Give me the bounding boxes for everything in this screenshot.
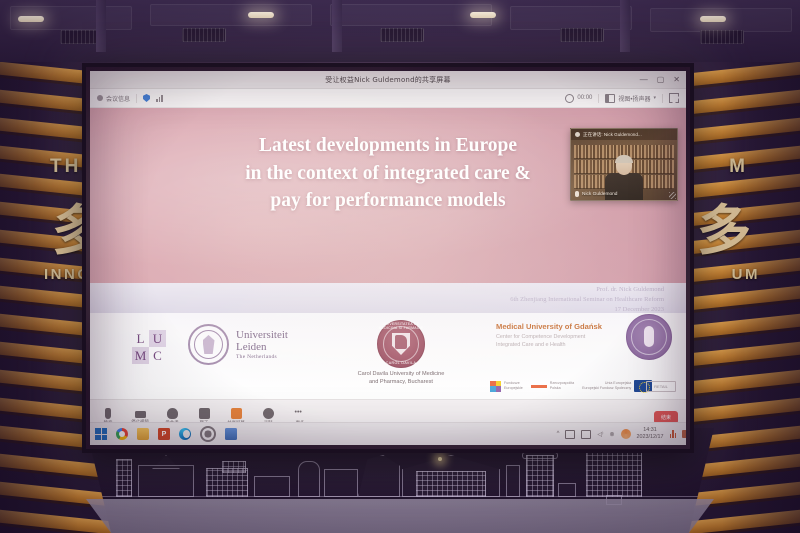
more-icon bbox=[295, 408, 306, 419]
system-tray: ^ ◁⁾ ⊗ 14:31 2023/12/17 bbox=[557, 427, 686, 441]
stage-floor bbox=[86, 499, 714, 533]
rzeczpospolita-polska-logo: Rzeczpospolita Polska bbox=[531, 381, 574, 390]
record-icon bbox=[565, 94, 574, 103]
view-icon bbox=[605, 94, 615, 103]
unia-europejska-logo: Unia Europejska Europejski Fundusz Społe… bbox=[582, 380, 652, 392]
recording-time: 00:00 bbox=[577, 95, 592, 101]
clock[interactable]: 14:31 2023/12/17 bbox=[637, 427, 664, 441]
ceiling-duct bbox=[620, 0, 630, 52]
lumc-letter-l: L bbox=[132, 330, 149, 347]
chevron-down-icon: ▾ bbox=[653, 95, 656, 101]
meeting-toolbar: 会议信息 00:00 视图•扬声器 ▾ bbox=[90, 89, 686, 108]
shared-desktop: 受让权益Nick Guldemond的共享屏幕 — ▢ ✕ 会议信息 00:00 bbox=[90, 71, 686, 445]
ceiling-vent bbox=[700, 30, 744, 44]
horse-icon bbox=[395, 335, 407, 349]
video-tile-header: 正在讲话: Nick Guldemond... bbox=[571, 129, 677, 140]
view-label: 视图•扬声器 bbox=[618, 94, 650, 103]
leiden-seal-icon bbox=[188, 324, 229, 365]
gdansk-title: Medical University of Gdańsk bbox=[496, 322, 616, 331]
ceiling-duct bbox=[96, 0, 106, 52]
network-icon[interactable] bbox=[581, 430, 591, 439]
event-name: 6th Zhenjiang International Seminar on H… bbox=[510, 295, 664, 305]
participant-name: Nick Guldemond bbox=[582, 192, 617, 197]
slide-title-line-3: pay for performance models bbox=[130, 187, 646, 215]
presenter-video-tile[interactable]: 正在讲话: Nick Guldemond... Nick Guldemond bbox=[570, 128, 678, 201]
recording-indicator: 00:00 bbox=[565, 94, 592, 103]
chat-icon bbox=[199, 408, 210, 419]
share-icon bbox=[231, 408, 242, 419]
snake-icon bbox=[644, 326, 654, 347]
leiden-line-1: Universiteit bbox=[236, 329, 288, 341]
fundusze-line-1: Fundusze bbox=[504, 381, 520, 385]
polska-flag-icon bbox=[531, 385, 547, 388]
people-icon bbox=[167, 408, 178, 419]
toolbar-divider bbox=[598, 94, 599, 103]
ceiling-duct bbox=[332, 0, 342, 52]
camera-icon bbox=[135, 411, 146, 418]
ceiling bbox=[0, 0, 800, 62]
resize-handle[interactable] bbox=[669, 192, 676, 199]
lumc-letter-u: U bbox=[149, 330, 166, 347]
fundusze-europejskie-logo: Fundusze Europejskie bbox=[490, 381, 523, 392]
presentation-slide: Latest developments in Europe in the con… bbox=[90, 108, 686, 399]
polska-line-1: Rzeczpospolita bbox=[550, 381, 574, 385]
ceiling-light bbox=[248, 12, 274, 18]
toolbar-divider bbox=[662, 94, 663, 103]
polska-line-2: Polska bbox=[550, 386, 561, 390]
gear-icon[interactable] bbox=[200, 426, 216, 442]
clock-time: 14:31 bbox=[643, 427, 657, 433]
toolbar-divider bbox=[136, 94, 137, 103]
carol-seal-top-text: UNIVERSITATEA DE MEDICINA SI FARMACIE bbox=[378, 322, 424, 330]
edge-icon[interactable] bbox=[179, 428, 191, 440]
battery-icon[interactable] bbox=[565, 430, 575, 439]
view-selector[interactable]: 视图•扬声器 ▾ bbox=[605, 94, 656, 103]
ceiling-vent bbox=[182, 28, 226, 42]
gdansk-text-block: Medical University of Gdańsk Center for … bbox=[496, 322, 616, 349]
carol-name-line-1: Carol Davila University of Medicine bbox=[326, 371, 476, 379]
leiden-line-2: Leiden bbox=[236, 341, 288, 353]
fullscreen-icon[interactable] bbox=[669, 93, 679, 103]
window-controls: — ▢ ✕ bbox=[640, 71, 680, 88]
mural-star bbox=[438, 457, 442, 461]
universiteit-leiden-logo: Universiteit Leiden The Netherlands bbox=[188, 324, 288, 365]
fundusze-icon bbox=[490, 381, 501, 392]
windows-taskbar: P ^ ◁⁾ ⊗ 14:31 2023/12/17 bbox=[90, 422, 686, 445]
minimize-button[interactable]: — bbox=[640, 76, 648, 84]
window-title: 受让权益Nick Guldemond的共享屏幕 bbox=[325, 75, 450, 85]
video-tile-nameplate: Nick Guldemond bbox=[575, 191, 617, 197]
fundusze-line-2: Europejskie bbox=[504, 386, 523, 390]
meeting-info-button[interactable]: 会议信息 bbox=[97, 94, 130, 103]
security-icon[interactable]: ⊗ bbox=[609, 431, 614, 438]
lumc-logo: L U M C bbox=[132, 330, 166, 364]
meeting-info-label: 会议信息 bbox=[106, 94, 130, 103]
mic-icon bbox=[575, 191, 579, 197]
gdansk-seal-icon bbox=[626, 314, 672, 360]
activity-icon[interactable] bbox=[670, 430, 677, 438]
volume-icon[interactable]: ◁⁾ bbox=[597, 431, 603, 438]
speaker-icon bbox=[575, 132, 580, 137]
carol-davila-logo: UNIVERSITATEA DE MEDICINA SI FARMACIE CA… bbox=[326, 320, 476, 386]
projection-screen: 受让权益Nick Guldemond的共享屏幕 — ▢ ✕ 会议信息 00:00 bbox=[82, 63, 694, 453]
start-button[interactable] bbox=[95, 428, 107, 440]
app-icon[interactable] bbox=[225, 428, 237, 440]
leiden-line-3: The Netherlands bbox=[236, 354, 288, 360]
gdansk-sub-line-1: Center for Competence Development bbox=[496, 334, 616, 342]
slide-subtitle: Prof. dr. Nick Guldemond 6th Zhenjiang I… bbox=[510, 285, 664, 315]
ceiling-light bbox=[470, 12, 496, 18]
window-titlebar[interactable]: 受让权益Nick Guldemond的共享屏幕 — ▢ ✕ bbox=[90, 71, 686, 89]
eu-funding-logos: Fundusze Europejskie Rzeczpospolita Pols… bbox=[490, 380, 652, 392]
shield-icon[interactable] bbox=[143, 94, 150, 102]
clock-date: 2023/12/17 bbox=[637, 434, 664, 440]
info-icon bbox=[97, 95, 103, 101]
gdansk-sub-line-2: Integrated Care and e Health bbox=[496, 342, 616, 350]
ceiling-light bbox=[700, 16, 726, 22]
ceiling-vent bbox=[380, 28, 424, 42]
folder-icon[interactable] bbox=[137, 428, 149, 440]
carol-name-line-2: and Pharmacy, Bucharest bbox=[326, 379, 476, 387]
record-icon bbox=[263, 408, 274, 419]
wall-text-m: M bbox=[729, 156, 748, 178]
wall-cjk-right: 多 bbox=[697, 186, 754, 265]
close-button[interactable]: ✕ bbox=[673, 76, 680, 84]
powerpoint-icon[interactable]: P bbox=[158, 428, 170, 440]
carol-davila-seal-icon: UNIVERSITATEA DE MEDICINA SI FARMACIE CA… bbox=[377, 320, 425, 368]
carol-seal-bottom-text: CAROL DAVILA bbox=[378, 361, 424, 365]
lumc-letter-m: M bbox=[132, 347, 149, 364]
ceiling-vent bbox=[560, 28, 604, 42]
unia-line-1: Unia Europejska bbox=[605, 381, 631, 385]
chrome-icon[interactable] bbox=[116, 428, 128, 440]
ceiling-light bbox=[18, 16, 44, 22]
retail-badge: RETAIL bbox=[646, 381, 676, 392]
mic-icon bbox=[105, 408, 111, 419]
notifications-icon[interactable] bbox=[682, 430, 686, 438]
unia-line-2: Europejski Fundusz Społeczny bbox=[582, 386, 631, 390]
lumc-letter-c: C bbox=[149, 347, 166, 364]
ime-icon[interactable] bbox=[621, 429, 631, 439]
network-icon[interactable] bbox=[156, 95, 163, 102]
maximize-button[interactable]: ▢ bbox=[657, 76, 665, 84]
wall-text-um: UM bbox=[732, 266, 760, 283]
active-speaker-label: 正在讲话: Nick Guldemond... bbox=[583, 132, 642, 138]
presenter-name: Prof. dr. Nick Guldemond bbox=[510, 285, 664, 295]
chevron-up-icon[interactable]: ^ bbox=[557, 431, 560, 437]
slide-title-line-2: in the context of integrated care & bbox=[130, 160, 646, 188]
slide-title-line-1: Latest developments in Europe bbox=[130, 132, 646, 160]
